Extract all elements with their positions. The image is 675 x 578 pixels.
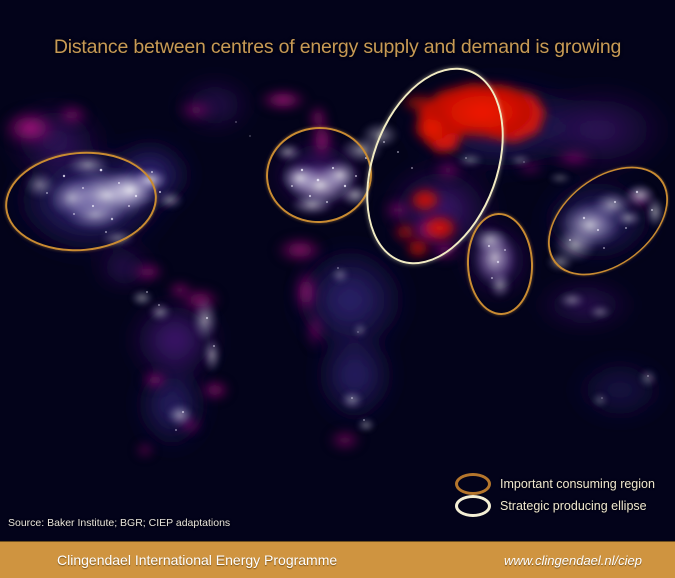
slide-title: Distance between centres of energy suppl… [0, 36, 675, 59]
footer-bar: Clingendael International Energy Program… [0, 541, 675, 578]
ellipse-orange-icon [455, 473, 491, 495]
legend-label-producing: Strategic producing ellipse [500, 499, 647, 513]
ellipse-white-icon [455, 495, 491, 517]
footer-inner: Clingendael International Energy Program… [0, 542, 675, 578]
footer-organisation-title: Clingendael International Energy Program… [57, 552, 337, 568]
legend-item-producing: Strategic producing ellipse [455, 495, 670, 517]
source-credit: Source: Baker Institute; BGR; CIEP adapt… [8, 517, 230, 529]
legend-item-consuming: Important consuming region [455, 473, 670, 495]
legend: Important consuming region Strategic pro… [455, 473, 670, 517]
legend-label-consuming: Important consuming region [500, 477, 655, 491]
footer-website-url[interactable]: www.clingendael.nl/ciep [504, 553, 642, 568]
slide-root: Distance between centres of energy suppl… [0, 0, 675, 578]
